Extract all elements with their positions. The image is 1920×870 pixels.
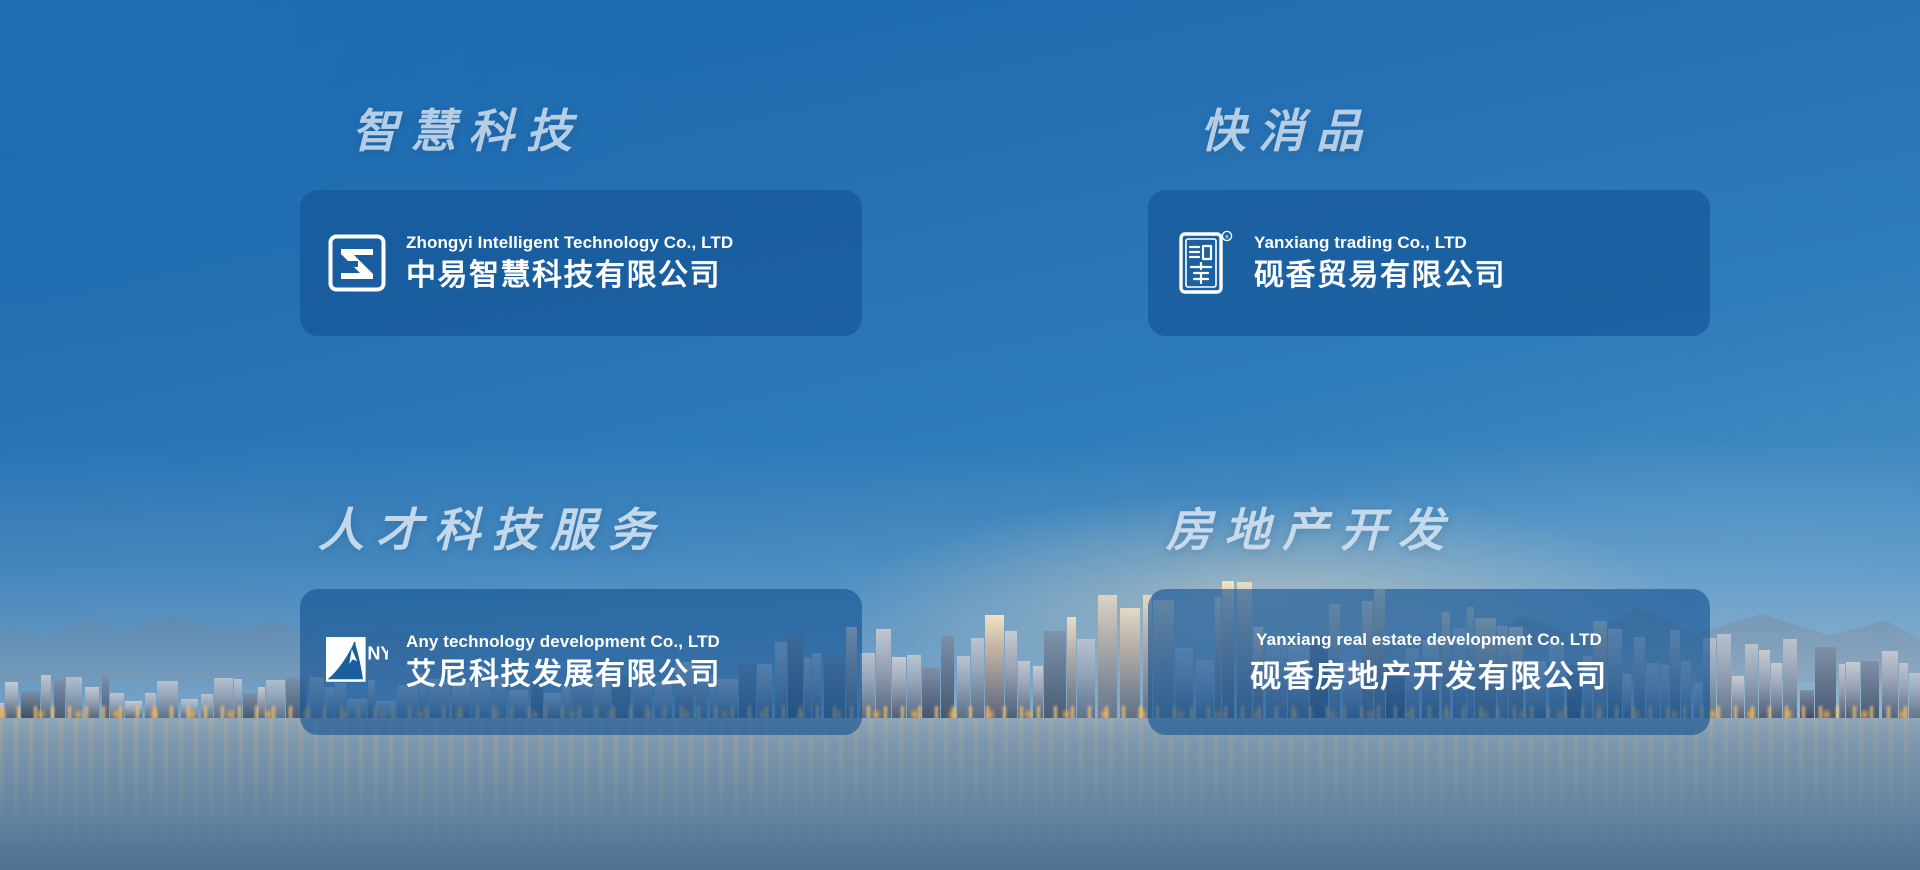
company-card-any-technology[interactable]: NY Any technology development Co., LTD 艾… <box>300 589 862 735</box>
sector-cell-talent-tech-services: 人才科技服务 NY Any technology development Co.… <box>0 435 960 870</box>
company-name-en: Yanxiang real estate development Co. LTD <box>1256 629 1602 650</box>
company-name-cn: 砚香贸易有限公司 <box>1254 258 1506 294</box>
sector-grid: 智慧科技 Zhongyi Intelligent Technology Co.,… <box>0 0 1920 870</box>
sector-heading-smart-technology: 智慧科技 <box>352 108 862 154</box>
company-name-cn: 中易智慧科技有限公司 <box>406 258 733 294</box>
svg-text:R: R <box>1225 235 1229 241</box>
sector-heading-real-estate: 房地产开发 <box>1166 507 1710 553</box>
company-name-cn: 砚香房地产开发有限公司 <box>1250 658 1608 695</box>
company-names: Any technology development Co., LTD 艾尼科技… <box>406 631 721 692</box>
company-names: Yanxiang trading Co., LTD 砚香贸易有限公司 <box>1254 232 1506 293</box>
sector-cell-smart-technology: 智慧科技 Zhongyi Intelligent Technology Co.,… <box>0 0 960 435</box>
hero-banner: 智慧科技 Zhongyi Intelligent Technology Co.,… <box>0 0 1920 870</box>
company-card-yanxiang-trading[interactable]: R Yanxiang trading Co., LTD 砚香贸易有限公司 <box>1148 190 1710 336</box>
company-card-yanxiang-real-estate[interactable]: Yanxiang real estate development Co. LTD… <box>1148 589 1710 735</box>
sector-cell-real-estate: 房地产开发 Yanxiang real estate development C… <box>960 435 1920 870</box>
company-names: Zhongyi Intelligent Technology Co., LTD … <box>406 232 733 293</box>
company-name-cn: 艾尼科技发展有限公司 <box>406 657 721 693</box>
any-mountain-ny-logo: NY <box>326 631 388 693</box>
company-name-en: Yanxiang trading Co., LTD <box>1254 232 1506 253</box>
company-names: Yanxiang real estate development Co. LTD… <box>1250 629 1608 695</box>
company-name-en: Zhongyi Intelligent Technology Co., LTD <box>406 232 733 253</box>
company-card-zhongyi[interactable]: Zhongyi Intelligent Technology Co., LTD … <box>300 190 862 336</box>
company-name-en: Any technology development Co., LTD <box>406 631 721 652</box>
yanxiang-seal-logo: R <box>1174 232 1236 294</box>
sector-heading-fmcg: 快消品 <box>1200 108 1710 154</box>
sector-heading-talent-tech-services: 人才科技服务 <box>318 507 862 553</box>
svg-text:NY: NY <box>367 643 388 663</box>
sector-cell-fmcg: 快消品 R Yanxiang trading Co., LTD <box>960 0 1920 435</box>
zhongyi-z-square-logo <box>326 232 388 294</box>
